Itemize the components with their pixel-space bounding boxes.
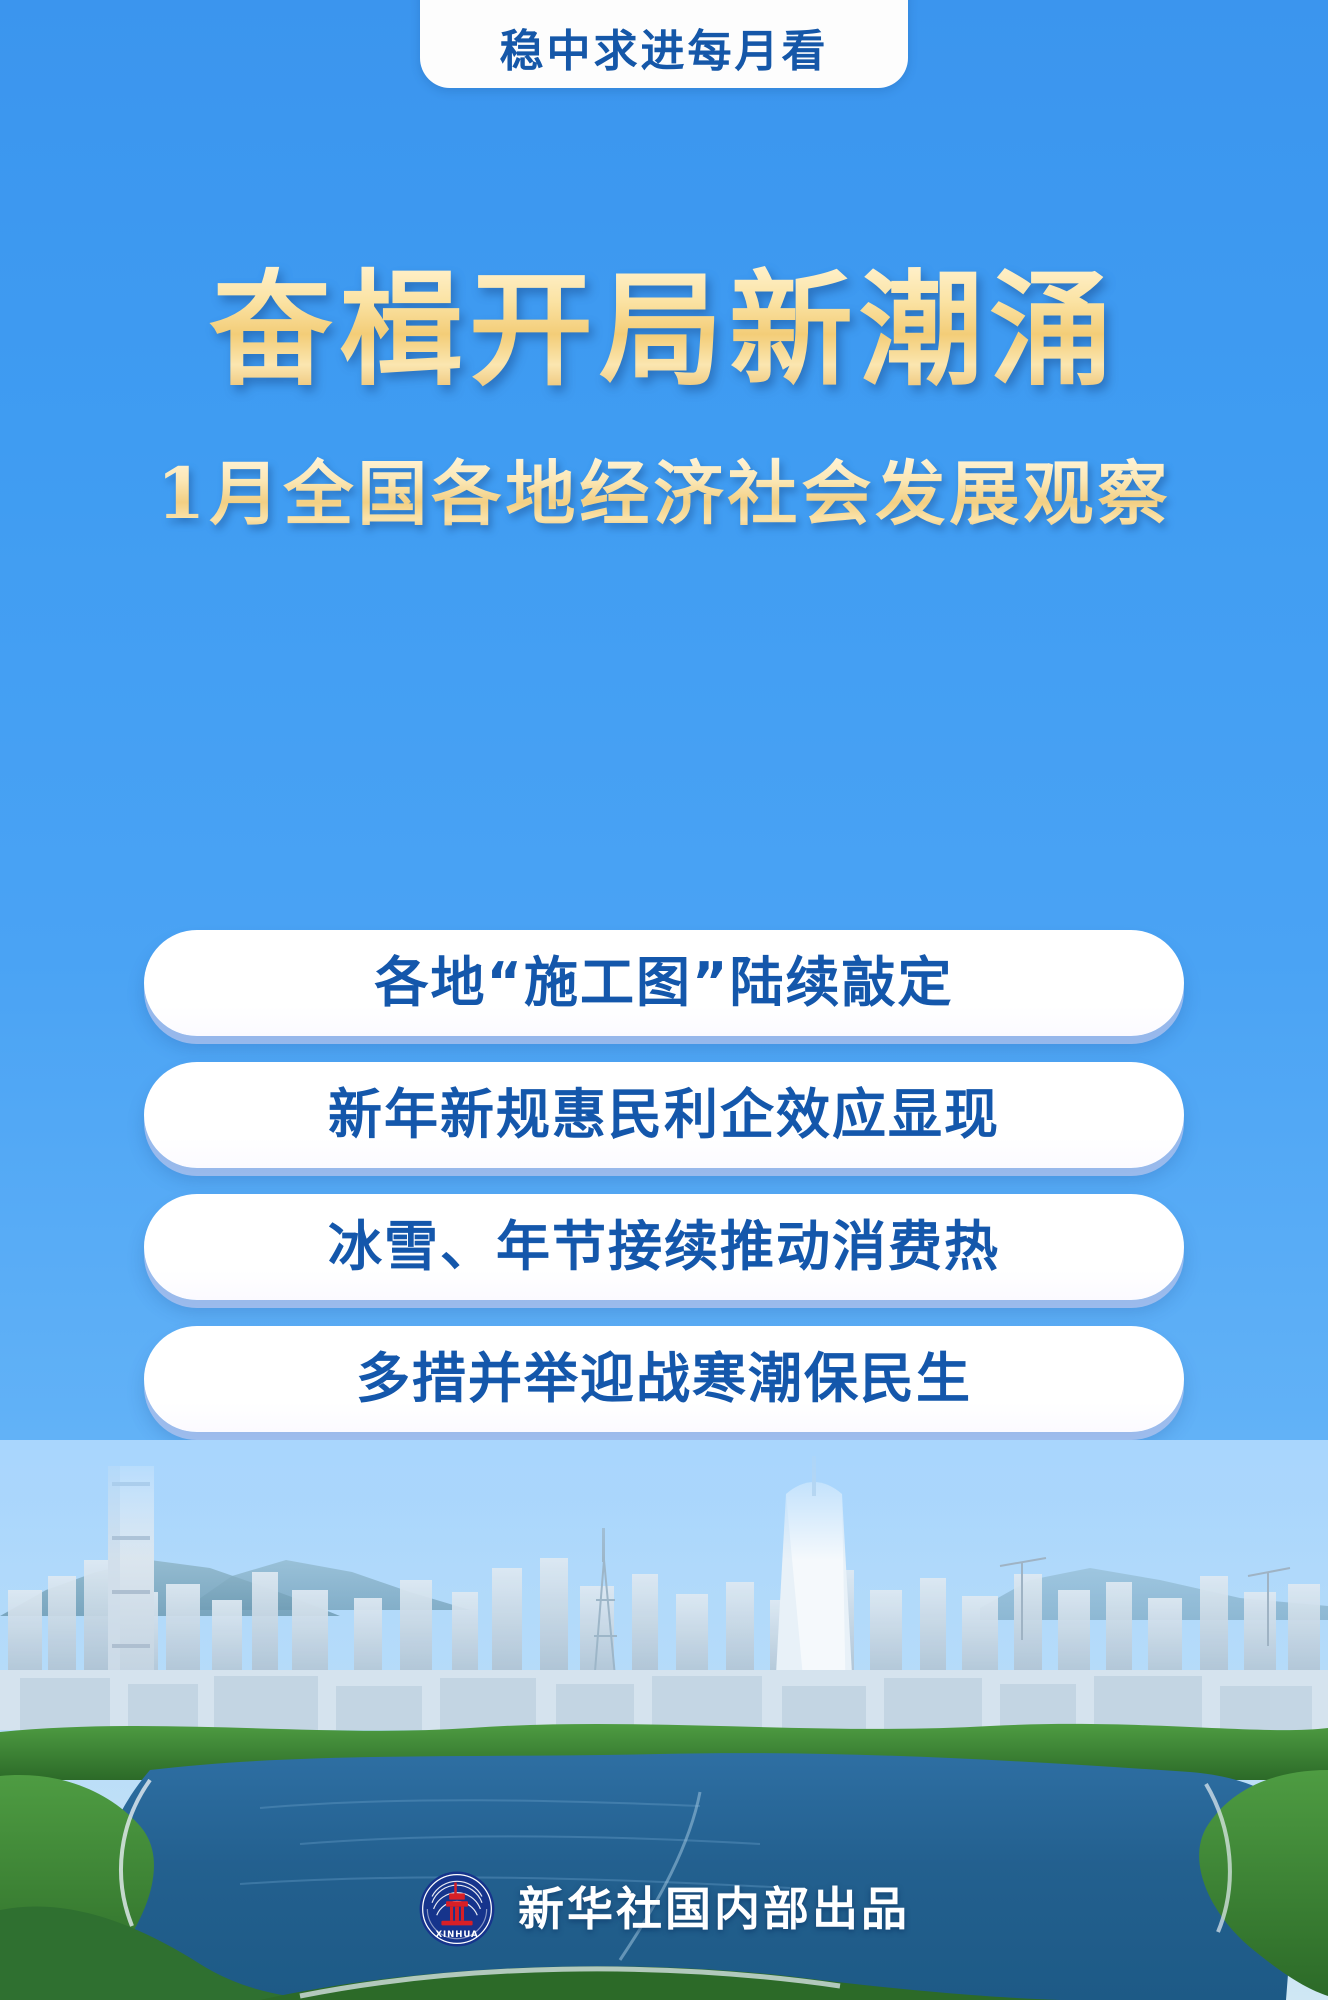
bullet-label: 冰雪、年节接续推动消费热 [328,1220,1000,1274]
footer: XINHUA 新华社国内部出品 [0,1870,1328,1948]
subhead-block: 1月全国各地经济社会发展观察 [0,452,1328,536]
bullet-list: 各地“施工图”陆续敲定 新年新规惠民利企效应显现 冰雪、年节接续推动消费热 多措… [0,930,1328,1432]
page-title: 奋楫开局新潮涌 [209,262,1119,401]
poster-root: 稳中求进每月看 奋楫开局新潮涌 1月全国各地经济社会发展观察 各地“施工图”陆续… [0,0,1328,2000]
top-banner: 稳中求进每月看 [420,0,908,88]
list-item[interactable]: 各地“施工图”陆续敲定 [144,930,1184,1036]
list-item[interactable]: 新年新规惠民利企效应显现 [144,1062,1184,1168]
bullet-label: 新年新规惠民利企效应显现 [328,1088,1000,1142]
xinhua-logo-icon: XINHUA [418,1870,496,1948]
list-item[interactable]: 冰雪、年节接续推动消费热 [144,1194,1184,1300]
bullet-label: 各地“施工图”陆续敲定 [375,956,954,1010]
top-banner-label: 稳中求进每月看 [500,30,829,74]
xinhua-wordmark: XINHUA [435,1930,478,1940]
list-item[interactable]: 多措并举迎战寒潮保民生 [144,1326,1184,1432]
bullet-label: 多措并举迎战寒潮保民生 [356,1352,972,1406]
page-subtitle: 1月全国各地经济社会发展观察 [157,452,1172,536]
headline-block: 奋楫开局新潮涌 [0,262,1328,401]
footer-credit: 新华社国内部出品 [518,1886,910,1932]
